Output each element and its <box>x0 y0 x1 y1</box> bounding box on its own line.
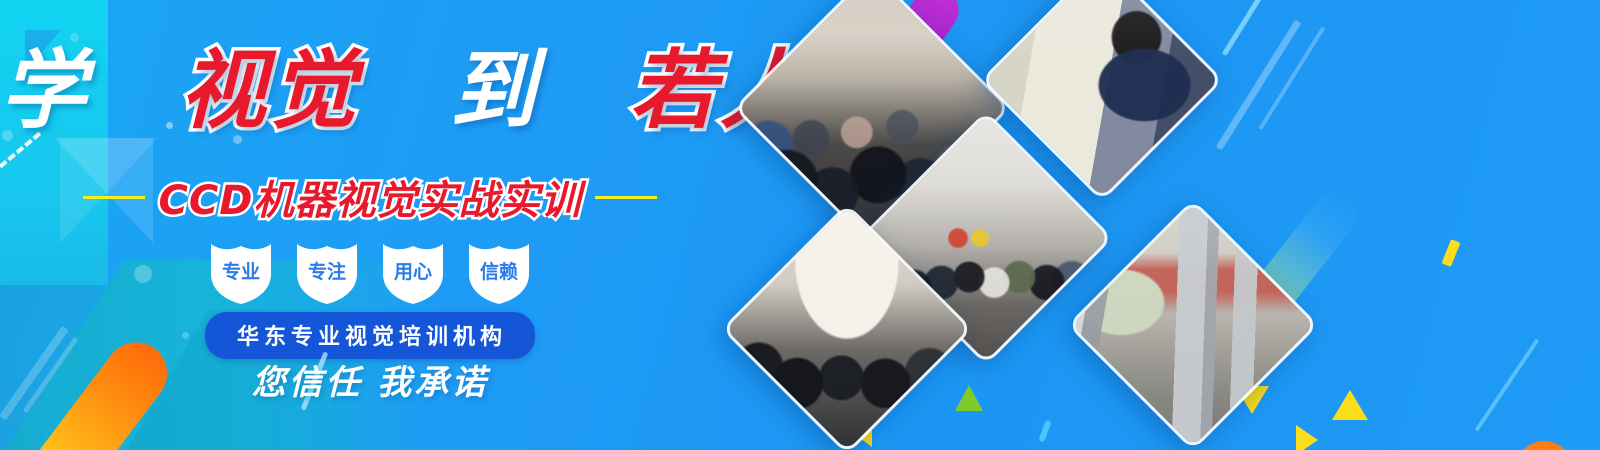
page-title: 学 视觉 到 若人 <box>0 48 740 134</box>
shield-badge-dedicated: 用心 <box>381 240 445 304</box>
status-badge: 华东专业视觉培训机构 <box>205 312 535 359</box>
headline-segment-2: 视觉 <box>180 41 360 141</box>
promotional-banner: 学 视觉 到 若人 CCD机器视觉实战实训 专业 <box>0 0 1600 450</box>
organization-pill-wrapper: 华东专业视觉培训机构 <box>0 312 740 359</box>
shield-badge-label: 信赖 <box>467 240 531 304</box>
subtitle-rule-right <box>595 196 657 199</box>
shield-badge-professional: 专业 <box>209 240 273 304</box>
subtitle-row: CCD机器视觉实战实训 <box>0 168 740 226</box>
yellow-dash-fleck <box>1441 239 1460 267</box>
diagonal-streak-5 <box>1475 338 1540 431</box>
subtitle: CCD机器视觉实战实训 <box>159 168 582 226</box>
shield-badge-label: 专注 <box>295 240 359 304</box>
headline-text-block: 学 视觉 到 若人 CCD机器视觉实战实训 专业 <box>0 0 740 450</box>
orange-corner-bar <box>1471 430 1584 450</box>
shield-badge-label: 用心 <box>381 240 445 304</box>
shield-badge-label: 专业 <box>209 240 273 304</box>
headline-segment-3: 到 <box>450 41 540 141</box>
shield-badge-group: 专业 专注 用心 信赖 <box>0 240 740 304</box>
photo-collage <box>716 0 1436 450</box>
subtitle-rule-left <box>83 196 145 199</box>
tagline: 您信任 我承诺 <box>0 355 740 404</box>
shield-badge-focused: 专注 <box>295 240 359 304</box>
headline-segment-1: 学 <box>0 41 90 141</box>
shield-badge-trusted: 信赖 <box>467 240 531 304</box>
